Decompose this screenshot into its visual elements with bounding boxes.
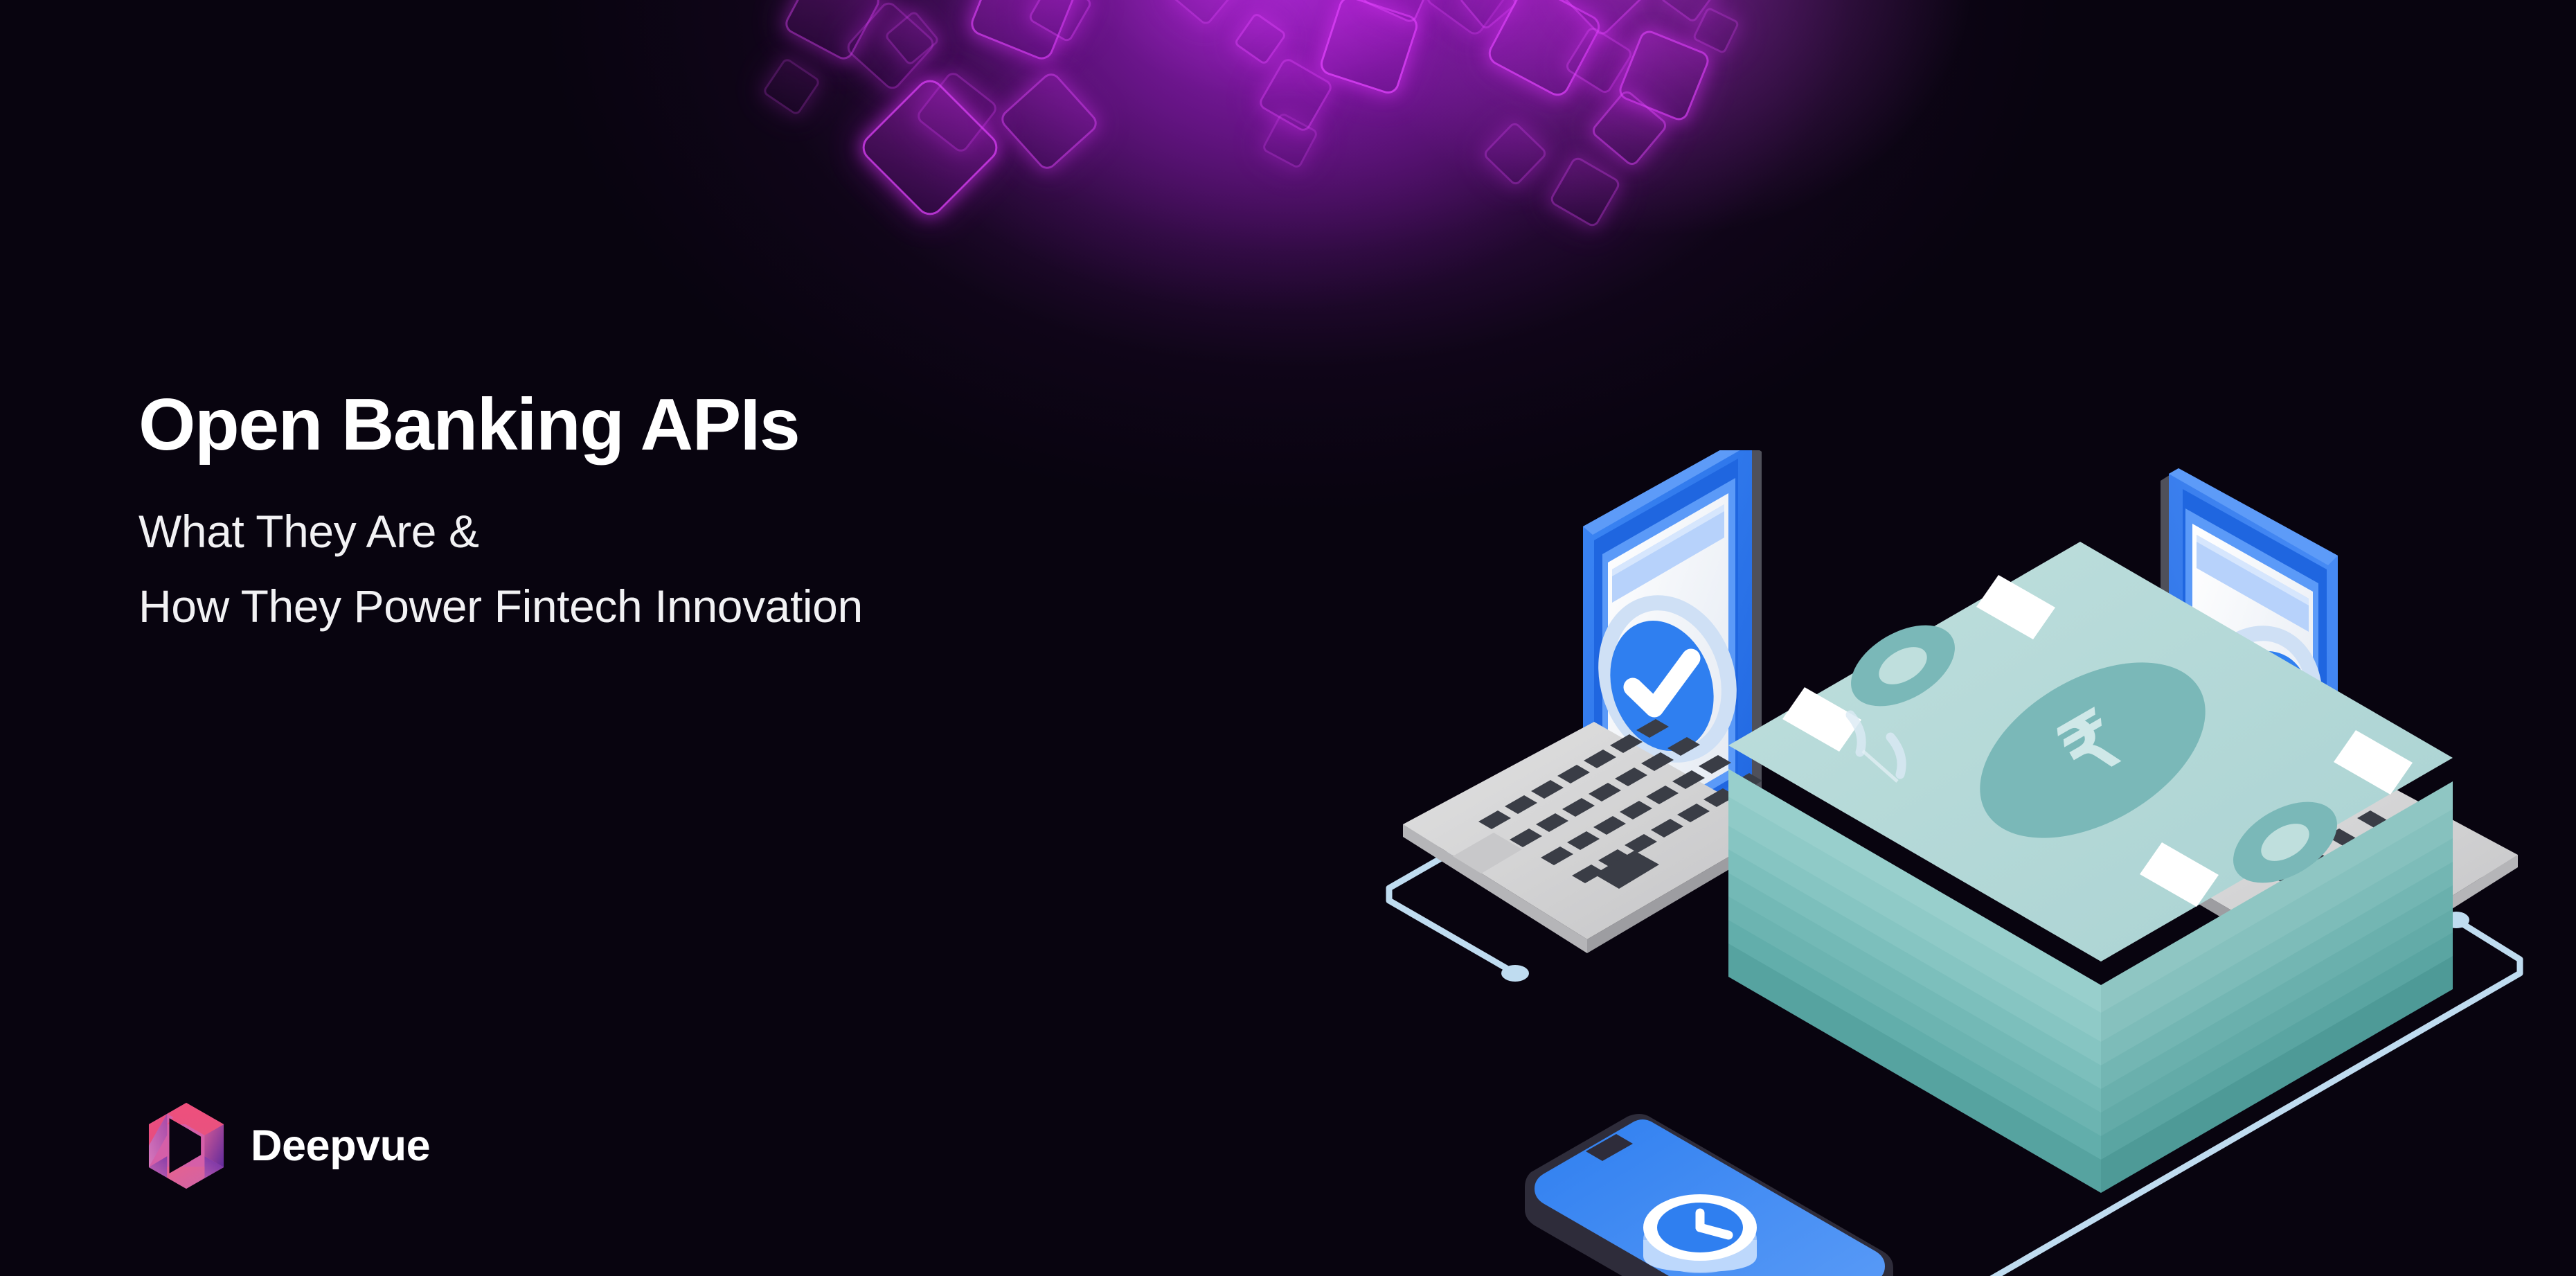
diamond-particle [762, 57, 821, 116]
diamond-particle [1233, 12, 1287, 66]
deepvue-hexagon-icon [141, 1100, 232, 1191]
diamond-particle [1482, 121, 1548, 187]
brand-logo[interactable]: Deepvue [141, 1100, 430, 1191]
diamond-particle [1168, 0, 1238, 27]
subtitle-line-1: What They Are & [138, 508, 863, 554]
smartphone [1525, 1114, 1893, 1276]
logo-wordmark: Deepvue [251, 1124, 430, 1168]
open-banking-illustration: ₹ [1336, 450, 2576, 1276]
banner-canvas: Open Banking APIs What They Are & How Th… [0, 0, 2576, 1276]
diamond-particle [1548, 155, 1622, 229]
text-block: Open Banking APIs What They Are & How Th… [138, 388, 863, 629]
page-title: Open Banking APIs [138, 388, 863, 461]
subtitle-line-2: How They Power Fintech Innovation [138, 583, 863, 629]
diamond-particle [997, 69, 1101, 173]
laptop-left [1403, 450, 1780, 953]
banknote-stack: ₹ [1728, 542, 2453, 1193]
